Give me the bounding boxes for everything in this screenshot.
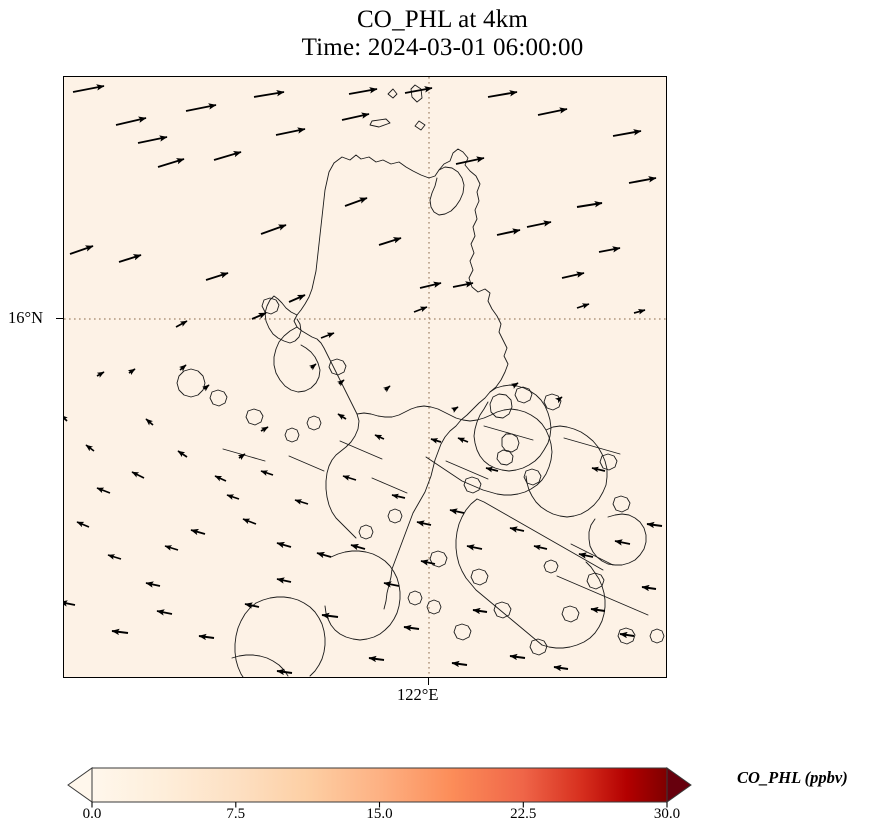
- coastline-path: [408, 591, 422, 605]
- wind-vector-arrow: [70, 246, 93, 254]
- coastline-path: [446, 461, 488, 479]
- coastline-path: [210, 390, 227, 406]
- colorbar[interactable]: [32, 762, 692, 808]
- wind-vector-arrow: [369, 658, 384, 660]
- wind-vector-arrow: [277, 543, 291, 547]
- wind-vector-arrow: [138, 137, 167, 143]
- wind-vector-arrow: [261, 471, 273, 475]
- wind-vector-arrow: [420, 283, 441, 288]
- wind-vector-arrow: [86, 445, 94, 451]
- coastline-path: [571, 544, 613, 565]
- wind-vector-arrow: [119, 255, 141, 262]
- coastline-path: [388, 89, 397, 98]
- wind-vector-arrow: [342, 114, 369, 120]
- coastline-path: [544, 394, 561, 410]
- wind-vector-arrow: [375, 435, 384, 439]
- wind-vector-arrow: [295, 500, 308, 504]
- coastline-path: [562, 606, 579, 622]
- coastline-path: [340, 441, 382, 459]
- wind-vector-arrow: [338, 414, 346, 419]
- wind-vector-arrow: [97, 372, 104, 376]
- wind-vector-arrow: [629, 178, 656, 183]
- wind-vector-arrow: [421, 561, 435, 564]
- coastline-path: [456, 499, 542, 645]
- wind-vector-arrow: [157, 611, 172, 614]
- wind-vector-arrow: [321, 333, 334, 338]
- coastline-path: [557, 576, 648, 615]
- wind-vector-arrow: [165, 546, 178, 550]
- colorbar-gradient-bar[interactable]: [92, 768, 667, 802]
- wind-vector-arrow: [215, 476, 226, 481]
- figure-title: CO_PHL at 4km Time: 2024-03-01 06:00:00: [0, 6, 885, 62]
- wind-vector-arrow: [261, 427, 268, 431]
- wind-vector-arrow: [343, 476, 356, 480]
- coastline-path: [477, 499, 603, 570]
- wind-vector-arrow: [431, 439, 441, 442]
- coastline-path: [471, 569, 488, 585]
- wind-vector-arrow: [577, 304, 589, 308]
- wind-vector-arrow: [351, 545, 365, 549]
- colorbar-tick-label: 7.5: [226, 806, 245, 823]
- wind-vector-arrow: [214, 152, 241, 160]
- colorbar-tick-label: 22.5: [510, 806, 536, 823]
- coastline-path: [325, 551, 400, 640]
- wind-vector-arrow: [206, 273, 228, 280]
- wind-vector-arrow: [129, 369, 135, 373]
- coastline-path: [430, 167, 464, 215]
- wind-vector-arrow: [199, 636, 214, 638]
- wind-vector-arrow: [289, 295, 305, 302]
- wind-vector-arrow: [73, 86, 104, 92]
- wind-vector-arrow: [456, 158, 484, 164]
- coastline-path: [262, 298, 279, 314]
- wind-vector-arrow: [276, 129, 305, 135]
- coastline-path: [372, 478, 407, 493]
- wind-vector-arrow: [458, 438, 468, 442]
- wind-vector-arrow: [384, 583, 399, 586]
- x-axis-tick-122e: [428, 678, 429, 685]
- wind-vector-arrow: [317, 553, 331, 557]
- map-plot-area: [64, 77, 667, 678]
- wind-vector-arrow: [311, 364, 316, 368]
- coastline-path: [494, 602, 511, 618]
- wind-vector-arrow: [497, 230, 520, 235]
- title-line-time: Time: 2024-03-01 06:00:00: [0, 34, 885, 62]
- coastline-path: [357, 406, 552, 495]
- coastline-path: [484, 426, 533, 440]
- wind-vector-arrow: [227, 495, 239, 499]
- coastline-path: [359, 525, 373, 539]
- wind-vector-arrow: [261, 225, 286, 234]
- coastline-path: [415, 121, 425, 130]
- wind-vector-arrow: [510, 528, 524, 531]
- wind-vector-arrow: [97, 488, 110, 493]
- coastline-path: [246, 409, 263, 425]
- coastline-path: [497, 450, 513, 465]
- wind-vector-arrow: [116, 118, 146, 125]
- coastline-path: [370, 119, 390, 127]
- wind-vector-arrow: [599, 248, 620, 252]
- wind-vector-arrow: [277, 671, 292, 673]
- wind-vector-layer: [64, 86, 662, 673]
- colorbar-title: CO_PHL (ppbv): [737, 768, 848, 788]
- coastline-path: [285, 428, 299, 442]
- wind-vector-arrow: [392, 495, 405, 498]
- wind-vector-arrow: [252, 313, 266, 319]
- wind-vector-arrow: [405, 88, 432, 93]
- wind-vector-arrow: [385, 386, 390, 390]
- coastline-path: [515, 387, 532, 403]
- wind-vector-arrow: [613, 131, 641, 136]
- coastline-path: [502, 434, 519, 452]
- wind-vector-arrow: [345, 198, 367, 206]
- wind-vector-arrow: [191, 530, 205, 534]
- wind-vector-arrow: [64, 602, 75, 605]
- wind-vector-arrow: [186, 105, 216, 111]
- wind-vector-arrow: [527, 222, 551, 227]
- wind-vector-arrow: [562, 273, 584, 278]
- wind-vector-arrow: [453, 283, 473, 287]
- wind-vector-arrow: [64, 415, 67, 421]
- wind-vector-arrow: [132, 472, 144, 478]
- wind-vector-arrow: [534, 546, 547, 549]
- wind-vector-arrow: [642, 587, 656, 589]
- wind-vector-arrow: [158, 159, 184, 167]
- colorbar-tick-label: 0.0: [83, 806, 102, 823]
- coastline-path: [334, 149, 508, 609]
- wind-vector-arrow: [180, 365, 186, 370]
- colorbar-extend-max: [667, 768, 691, 802]
- wind-vector-arrow: [204, 385, 209, 389]
- wind-vector-arrow: [379, 238, 401, 245]
- wind-vector-arrow: [510, 656, 525, 658]
- wind-vector-arrow: [634, 310, 645, 313]
- coastline-path: [235, 603, 256, 678]
- wind-vector-arrow: [414, 307, 427, 312]
- coastline-path: [430, 551, 447, 567]
- coastline-path: [329, 359, 346, 375]
- wind-vector-arrow: [349, 89, 377, 94]
- wind-vector-arrow: [488, 92, 517, 97]
- coastline-path: [177, 369, 205, 397]
- wind-vector-arrow: [591, 609, 605, 611]
- wind-vector-arrow: [254, 92, 284, 97]
- coastline-path: [256, 597, 325, 676]
- wind-vector-arrow: [538, 109, 567, 115]
- wind-vector-arrow: [112, 631, 128, 633]
- wind-vector-arrow: [647, 524, 662, 526]
- wind-vector-arrow: [243, 519, 256, 524]
- coastline-path: [613, 496, 630, 512]
- map-gridlines: [64, 77, 667, 678]
- wind-vector-arrow: [620, 634, 634, 636]
- wind-vector-arrow: [452, 663, 467, 665]
- colorbar-tick-labels: 0.07.515.022.530.0: [0, 806, 885, 830]
- wind-vector-arrow: [404, 627, 419, 629]
- coastline-path: [274, 327, 320, 392]
- wind-vector-arrow: [277, 579, 291, 582]
- wind-vector-arrow: [467, 546, 482, 549]
- wind-vector-arrow: [577, 203, 602, 207]
- wind-vector-arrow: [146, 419, 153, 425]
- wind-vector-arrow: [453, 407, 458, 410]
- coastline-path: [544, 560, 558, 573]
- title-line-variable: CO_PHL at 4km: [0, 6, 885, 34]
- map-axes-panel: [63, 76, 667, 678]
- wind-vector-arrow: [473, 610, 487, 612]
- coastline-path: [490, 394, 512, 418]
- coastline-path: [307, 416, 321, 430]
- wind-vector-arrow: [450, 510, 464, 513]
- coastline-path: [388, 509, 402, 523]
- wind-vector-arrow: [178, 451, 187, 457]
- coastline-path: [454, 624, 471, 640]
- coastline-path: [587, 573, 604, 589]
- wind-vector-arrow: [322, 615, 338, 617]
- wind-vector-arrow: [176, 321, 187, 327]
- coastline-path: [542, 562, 605, 648]
- colorbar-tick-label: 30.0: [654, 806, 680, 823]
- coastline-path: [530, 639, 547, 655]
- x-axis-label-122e: 122°E: [397, 685, 438, 705]
- wind-vector-arrow: [146, 583, 160, 586]
- coastline-path: [289, 456, 324, 471]
- colorbar-extend-min: [68, 768, 92, 802]
- wind-vector-arrow: [108, 555, 121, 559]
- colorbar-graphic[interactable]: [32, 762, 692, 808]
- coastline-path: [294, 163, 359, 538]
- y-axis-label-16n: 16°N: [8, 308, 43, 328]
- y-axis-tick-16n: [56, 318, 63, 319]
- coastline-path: [464, 477, 481, 493]
- wind-vector-arrow: [77, 522, 89, 527]
- colorbar-tick-label: 15.0: [366, 806, 392, 823]
- coastline-path: [411, 85, 422, 102]
- coastline-layer: [177, 85, 664, 678]
- wind-vector-arrow: [554, 667, 568, 669]
- coastline-path: [650, 629, 664, 643]
- wind-vector-arrow: [615, 541, 630, 544]
- figure-canvas: CO_PHL at 4km Time: 2024-03-01 06:00:00 …: [0, 0, 885, 836]
